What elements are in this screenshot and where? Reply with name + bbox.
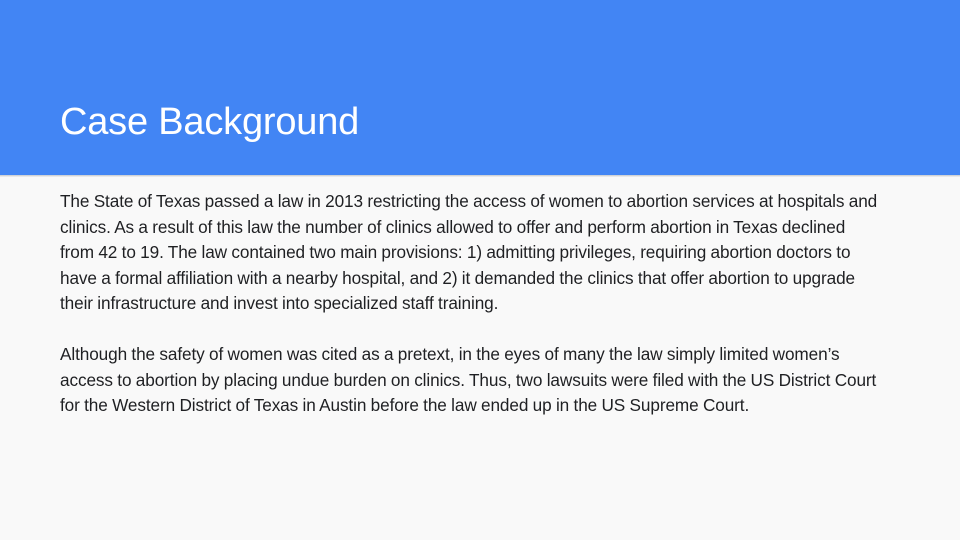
body-paragraph-1: The State of Texas passed a law in 2013 … (60, 189, 878, 317)
body-paragraph-2: Although the safety of women was cited a… (60, 342, 878, 419)
header-separator-rule (0, 175, 960, 177)
slide-body-text: The State of Texas passed a law in 2013 … (60, 189, 878, 419)
presentation-slide: Case Background The State of Texas passe… (0, 0, 960, 540)
slide-header-band: Case Background (0, 0, 960, 175)
slide-title: Case Background (60, 96, 359, 148)
